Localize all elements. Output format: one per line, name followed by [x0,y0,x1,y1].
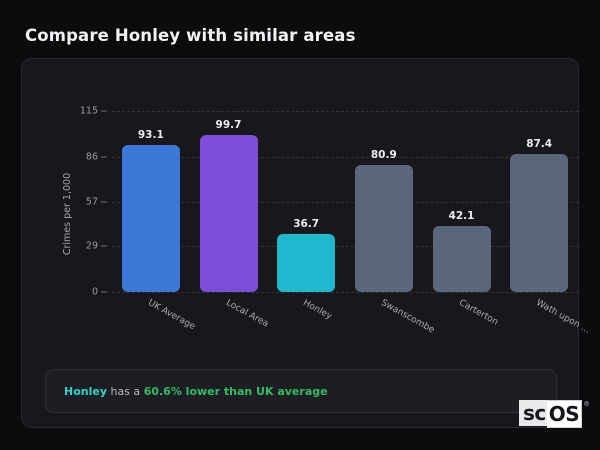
summary-callout: Honley has a 60.6% lower than UK average [45,369,557,413]
summary-area-name: Honley [64,385,107,398]
x-axis-category-label: Swanscombe [379,298,436,336]
summary-statistic: 60.6% lower than UK average [144,385,328,398]
bar-group[interactable]: 87.4Wath upon ... [510,138,568,292]
y-axis-tick-mark [101,246,107,247]
bar-rect[interactable] [510,154,568,292]
bar-group[interactable]: 93.1UK Average [122,129,180,292]
bar-rect[interactable] [433,226,491,292]
y-axis-tick-label: 86 [86,151,98,162]
bar-value-label: 80.9 [371,149,397,161]
y-axis-tick-label: 57 [86,197,98,208]
chart-card: Crimes per 1,000 029578611593.1UK Averag… [21,58,579,428]
gridline [112,202,578,203]
y-axis-tick-label: 115 [80,106,98,117]
bar-value-label: 42.1 [449,210,475,222]
x-axis-category-label: UK Average [146,298,197,332]
x-axis-category-label: Honley [301,298,333,322]
bar-group[interactable]: 99.7Local Area [200,119,258,292]
gridline [112,292,578,293]
gridline [112,246,578,247]
y-axis-tick-label: 0 [92,287,98,298]
y-axis-tick-mark [101,202,107,203]
bar-rect[interactable] [200,135,258,292]
bar-value-label: 87.4 [526,138,552,150]
bar-value-label: 93.1 [138,129,164,141]
bar-rect[interactable] [277,234,335,292]
x-axis-category-label: Carterton [457,298,499,328]
bar-value-label: 99.7 [216,119,242,131]
y-axis-tick-mark [101,156,107,157]
gridline [112,157,578,158]
bar-rect[interactable] [355,165,413,292]
bar-group[interactable]: 42.1Carterton [433,210,491,292]
page-title: Compare Honley with similar areas [25,26,356,45]
x-axis-category-label: Wath upon ... [534,298,591,336]
y-axis-tick-label: 29 [86,241,98,252]
bar-chart-plot-area: 029578611593.1UK Average99.7Local Area36… [112,111,578,292]
gridline [112,111,578,112]
bar-group[interactable]: 80.9Swanscombe [355,149,413,292]
bar-rect[interactable] [122,145,180,292]
brand-logo: scOS® [519,400,590,428]
bar-group[interactable]: 36.7Honley [277,218,335,292]
registered-trademark-icon: ® [583,401,590,408]
brand-logo-sc: sc [519,400,547,426]
x-axis-category-label: Local Area [224,298,270,329]
summary-middle-text: has a [107,385,144,398]
y-axis-tick-mark [101,292,107,293]
y-axis-tick-mark [101,111,107,112]
bar-value-label: 36.7 [293,218,319,230]
brand-logo-os: OS [547,400,582,428]
y-axis-title: Crimes per 1,000 [62,173,73,255]
